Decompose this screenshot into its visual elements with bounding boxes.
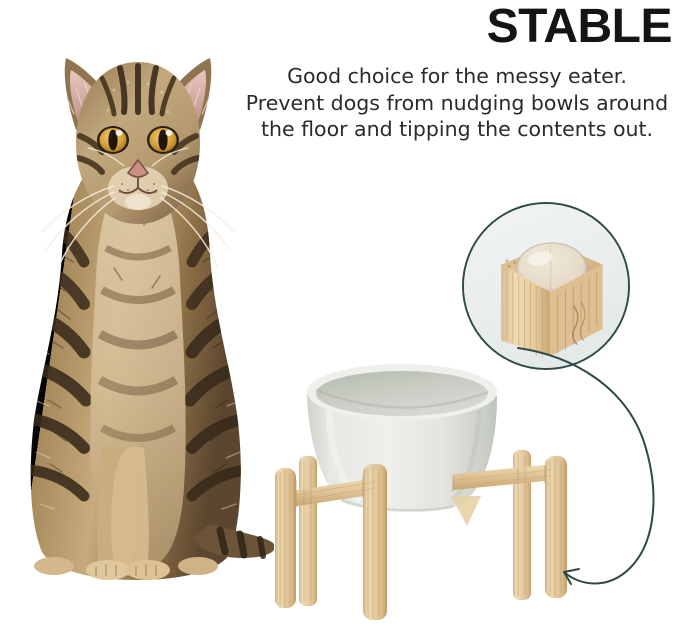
elevated-pet-bowl-product bbox=[255, 360, 600, 622]
product-marketing-image: STABLE Good choice for the messy eater. … bbox=[0, 0, 679, 632]
tabby-cat-photo bbox=[2, 18, 274, 614]
headline-stable: STABLE bbox=[300, 2, 672, 52]
anti-slip-foot-inset bbox=[462, 202, 630, 370]
subcopy-description: Good choice for the messy eater. Prevent… bbox=[243, 63, 671, 143]
